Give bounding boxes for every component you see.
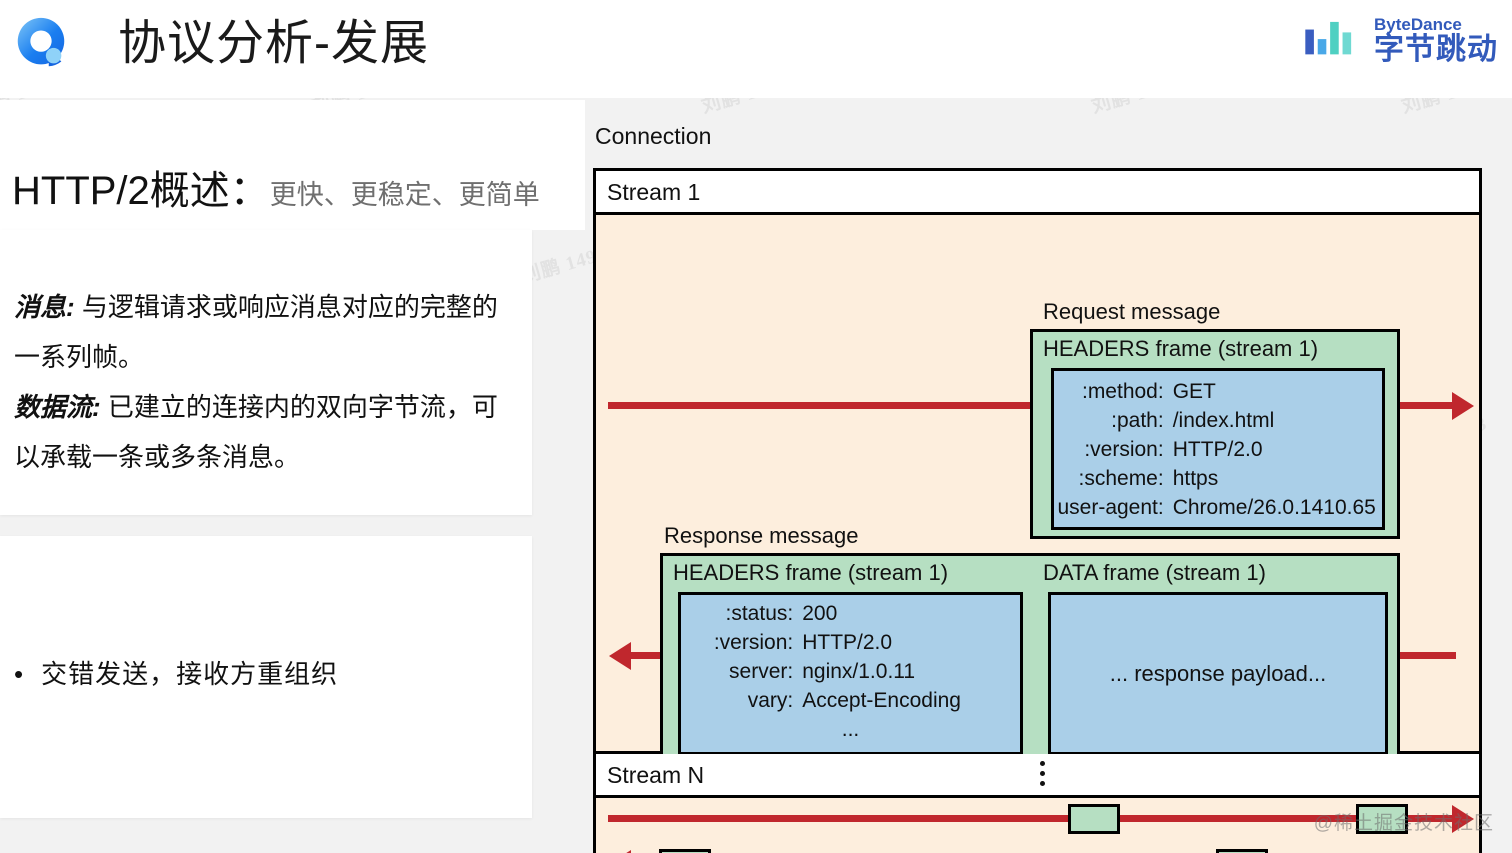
response-arrow-head-icon [609, 642, 631, 670]
header-value: HTTP/2.0 [802, 628, 1020, 657]
stream-n-frame-chip [1068, 804, 1120, 834]
slide-canvas: 刘鹏 1493 刘鹏 1493 刘鹏 1493 刘鹏 1493 刘鹏 1493 … [0, 0, 1512, 853]
header-key: user-agent: [1054, 493, 1173, 522]
request-message-label: Request message [1043, 299, 1220, 325]
bullet-dot-icon: • [14, 654, 23, 694]
bytedance-bars-icon [1304, 20, 1362, 62]
header-key: :version: [1054, 435, 1173, 464]
response-data-frame-title: DATA frame (stream 1) [1043, 560, 1266, 586]
request-arrow-head-icon [1452, 392, 1474, 420]
http2-heading: HTTP/2概述：更快、更稳定、更简单 [12, 158, 540, 216]
definition-message: 消息: 与逻辑请求或响应消息对应的完整的一系列帧。 [14, 282, 519, 382]
bytedance-logo: ByteDance 字节跳动 [1304, 12, 1498, 70]
connection-box: Stream 1 Request message HEADERS frame (… [593, 168, 1482, 853]
table-row: :method: GET [1054, 377, 1382, 406]
header-key: :method: [1054, 377, 1173, 406]
stream-n-frame-chip [659, 849, 711, 853]
definitions-card: 消息: 与逻辑请求或响应消息对应的完整的一系列帧。 数据流: 已建立的连接内的双… [0, 230, 532, 515]
definition-term-message: 消息: [14, 292, 75, 322]
header-key: :version: [681, 628, 802, 657]
table-row: :version: HTTP/2.0 [1054, 435, 1382, 464]
bytedance-label-en: ByteDance [1374, 16, 1498, 34]
header-value: HTTP/2.0 [1173, 435, 1382, 464]
request-headers-payload: :method: GET :path: /index.html :version… [1051, 368, 1385, 530]
table-row: :scheme: https [1054, 464, 1382, 493]
qq-browser-logo-icon [10, 13, 72, 75]
header-value: 200 [802, 599, 1020, 628]
slide-header: 协议分析-发展 ByteDance 字节跳动 [0, 0, 1512, 98]
response-payload-text: ... response payload... [1051, 661, 1385, 687]
header-key: :status: [681, 599, 802, 628]
request-headers-frame-title: HEADERS frame (stream 1) [1043, 336, 1318, 362]
http2-connection-diagram: Connection Stream 1 Request message HEAD… [593, 122, 1499, 853]
definition-body-message: 与逻辑请求或响应消息对应的完整的一系列帧。 [14, 292, 498, 372]
response-headers-payload: :status: 200 :version: HTTP/2.0 server: … [678, 592, 1023, 755]
header-key: server: [681, 657, 802, 686]
header-value: Chrome/26.0.1410.65 [1173, 493, 1382, 522]
header-key: vary: [681, 686, 802, 715]
http2-heading-main: HTTP/2概述： [12, 169, 270, 213]
definition-term-stream: 数据流: [14, 392, 101, 422]
table-row: ... [681, 715, 1020, 744]
http2-heading-sub: 更快、更稳定、更简单 [270, 180, 540, 210]
header-value: GET [1173, 377, 1382, 406]
response-data-payload: ... response payload... [1048, 592, 1388, 755]
header-key: :scheme: [1054, 464, 1173, 493]
table-row: server: nginx/1.0.11 [681, 657, 1020, 686]
header-value: https [1173, 464, 1382, 493]
community-credit: @稀土掘金技术社区 [1314, 808, 1494, 835]
table-row: :version: HTTP/2.0 [681, 628, 1020, 657]
response-message-label: Response message [664, 523, 858, 549]
header-ellipsis: ... [681, 715, 1020, 744]
header-value: /index.html [1173, 406, 1382, 435]
table-row: :status: 200 [681, 599, 1020, 628]
stream-1-header: Stream 1 [596, 171, 1479, 215]
stream-n-label: Stream N [607, 762, 704, 788]
response-headers-table: :status: 200 :version: HTTP/2.0 server: … [681, 599, 1020, 744]
header-key: :path: [1054, 406, 1173, 435]
stream-1-label: Stream 1 [607, 179, 700, 205]
table-row: vary: Accept-Encoding [681, 686, 1020, 715]
header-value: Accept-Encoding [802, 686, 1020, 715]
bytedance-wordmark: ByteDance 字节跳动 [1374, 16, 1498, 66]
response-headers-frame-title: HEADERS frame (stream 1) [673, 560, 948, 586]
stream-n-header: Stream N [596, 754, 1479, 798]
request-headers-frame: HEADERS frame (stream 1) :method: GET :p… [1030, 329, 1400, 539]
stream-n-frame-chip [1216, 849, 1268, 853]
request-headers-table: :method: GET :path: /index.html :version… [1054, 377, 1382, 522]
list-item: • 交错发送，接收方重组织 [14, 654, 514, 694]
table-row: user-agent: Chrome/26.0.1410.65 [1054, 493, 1382, 522]
vertical-ellipsis-icon [1040, 761, 1045, 786]
bytedance-label-cn: 字节跳动 [1374, 34, 1498, 66]
header-value: nginx/1.0.11 [802, 657, 1020, 686]
connection-label: Connection [595, 122, 711, 150]
page-title: 协议分析-发展 [118, 13, 429, 75]
definition-stream: 数据流: 已建立的连接内的双向字节流，可以承载一条或多条消息。 [14, 382, 519, 482]
bullet-label: 交错发送，接收方重组织 [41, 654, 338, 694]
bullet-card: • 交错发送，接收方重组织 [0, 536, 532, 818]
response-message-frames: HEADERS frame (stream 1) :status: 200 :v… [660, 553, 1400, 768]
stream-1-body: Request message HEADERS frame (stream 1)… [596, 215, 1479, 754]
table-row: :path: /index.html [1054, 406, 1382, 435]
